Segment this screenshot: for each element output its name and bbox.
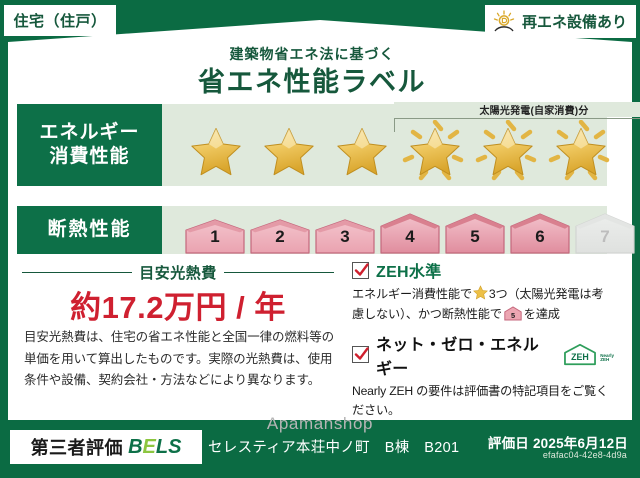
cost-rule-left <box>22 272 132 274</box>
insulation-level-4: 4 <box>379 212 441 254</box>
cost-rule-right <box>224 272 334 274</box>
bels-prefix-label: 第三者評価 <box>31 434 124 460</box>
evaluation-date: 評価日 2025年6月12日 <box>488 432 628 452</box>
zeh-standard-title-row: ZEH水準 <box>352 258 614 282</box>
bels-letter-b: B <box>128 436 142 458</box>
bels-letter-e: E <box>143 436 156 458</box>
cost-heading-label: 目安光熱費 <box>139 262 217 283</box>
insulation-level-number: 7 <box>600 227 609 254</box>
building-name: セレスティア本荘中ノ町 B棟 B201 <box>208 436 459 457</box>
insulation-level-7: 7 <box>574 212 636 254</box>
zeh-standard-item: ZEH水準 エネルギー消費性能で3つ（太陽光発電は考慮しない）、かつ断熱性能で5… <box>352 258 614 325</box>
energy-head-line2: 消費性能 <box>17 145 162 169</box>
inline-house-badge-icon: 5 <box>504 306 522 321</box>
zeh-standard-checkbox[interactable] <box>352 262 369 279</box>
utility-cost-heading: 目安光熱費 <box>22 262 334 283</box>
insulation-performance-row: 断熱性能 1 <box>17 206 607 254</box>
bels-badge: 第三者評価 BELS <box>10 430 202 464</box>
insulation-level-number: 4 <box>405 227 414 254</box>
star-solar <box>547 120 615 184</box>
evaluation-id: efafac04-42e8-4d9a <box>543 450 627 460</box>
insulation-rating-area: 1 2 <box>162 206 607 254</box>
zeh-standard-label: ZEH水準 <box>376 258 442 282</box>
zeh-section: ZEH水準 エネルギー消費性能で3つ（太陽光発電は考慮しない）、かつ断熱性能で5… <box>352 258 614 427</box>
zeh-standard-text-a: エネルギー消費性能で <box>352 287 472 301</box>
zeh-logo-sub-line2: ZEH <box>600 357 609 362</box>
insulation-level-number: 1 <box>210 227 219 254</box>
insulation-level-2: 2 <box>249 218 311 254</box>
watermark: Apamanshop <box>0 414 640 434</box>
insulation-level-number: 6 <box>535 227 544 254</box>
energy-performance-label: 住宅（住戸） 再エネ設備あり 建築物省エネ法に基づく 省エネ性能ラベル <box>0 0 640 478</box>
star-filled <box>328 120 396 184</box>
net-zero-label: ネット・ゼロ・エネルギー <box>376 331 555 379</box>
energy-performance-header: エネルギー 消費性能 <box>17 104 162 186</box>
solar-caption: 太陽光発電(自家消費)分 <box>394 102 640 117</box>
insulation-level-1: 1 <box>184 218 246 254</box>
zeh-house-logo-icon: ZEH <box>562 343 598 366</box>
housing-type-label: 住宅（住戸） <box>13 10 106 31</box>
insulation-level-number: 2 <box>275 227 284 254</box>
star-filled <box>182 120 250 184</box>
insulation-level-6: 6 <box>509 212 571 254</box>
renewable-equipment-label: 再エネ設備あり <box>522 11 627 32</box>
insulation-level-3: 3 <box>314 218 376 254</box>
energy-head-line1: エネルギー <box>17 121 162 145</box>
sun-icon <box>491 10 517 34</box>
svg-text:ZEH: ZEH <box>571 352 589 362</box>
utility-cost-note: 目安光熱費は、住宅の省エネ性能と全国一律の燃料等の単価を用いて算出したものです。… <box>24 327 334 392</box>
energy-rating-area: 太陽光発電(自家消費)分 <box>162 104 607 186</box>
zeh-standard-text-c: を達成 <box>524 307 560 321</box>
insulation-level-5: 5 <box>444 212 506 254</box>
insulation-head-label: 断熱性能 <box>17 218 162 242</box>
star-solar <box>401 120 469 184</box>
star-solar <box>474 120 542 184</box>
star-filled <box>255 120 323 184</box>
net-zero-checkbox[interactable] <box>352 346 369 363</box>
energy-performance-row: エネルギー 消費性能 太陽光発電(自家消費)分 <box>17 104 607 186</box>
housing-type-tag: 住宅（住戸） <box>4 5 116 36</box>
bels-letter-l: L <box>156 436 168 458</box>
renewable-equipment-tag: 再エネ設備あり <box>485 5 636 38</box>
inline-star-icon <box>473 285 488 300</box>
page-title: 省エネ性能ラベル <box>0 60 624 99</box>
energy-star-rating <box>182 120 615 184</box>
zeh-logo-subtext: Nearly ZEH <box>600 354 614 366</box>
net-zero-title-row: ネット・ゼロ・エネルギー ZEH Nearly ZEH <box>352 331 614 379</box>
net-zero-energy-item: ネット・ゼロ・エネルギー ZEH Nearly ZEH Nearly ZEH の… <box>352 331 614 422</box>
insulation-house-scale: 1 2 <box>184 206 636 254</box>
utility-cost-value: 約17.2万円 / 年 <box>22 282 334 327</box>
zeh-standard-text: エネルギー消費性能で3つ（太陽光発電は考慮しない）、かつ断熱性能で5を達成 <box>352 285 614 325</box>
bels-letter-s: S <box>168 436 181 458</box>
insulation-level-number: 5 <box>470 227 479 254</box>
bels-logo: BELS <box>128 436 181 459</box>
insulation-level-number: 3 <box>340 227 349 254</box>
insulation-performance-header: 断熱性能 <box>17 206 162 254</box>
svg-text:5: 5 <box>511 311 515 320</box>
zeh-logo: ZEH Nearly ZEH <box>562 343 614 366</box>
